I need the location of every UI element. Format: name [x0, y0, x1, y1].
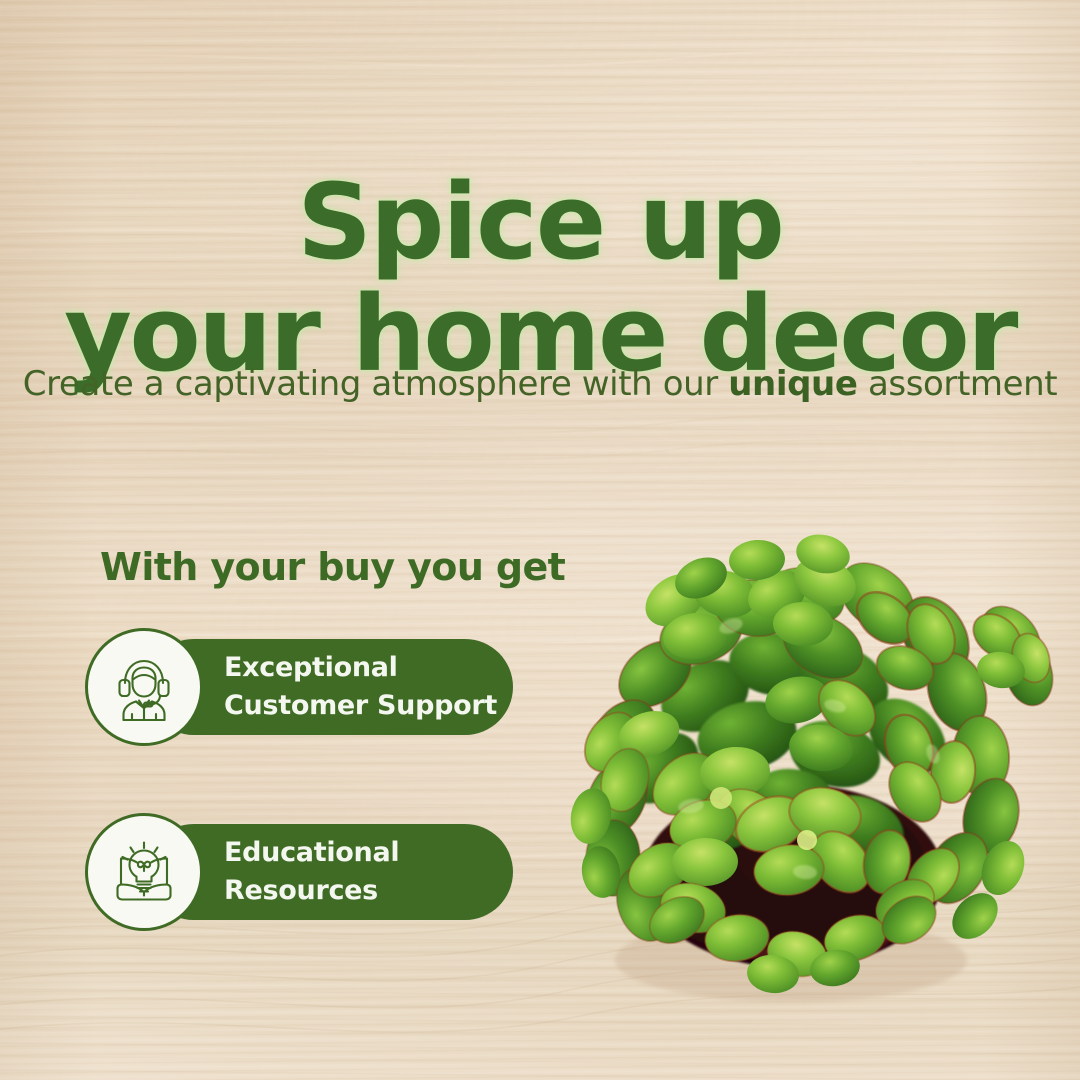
poster-canvas: Spice up your home decor Create a captiv… [0, 0, 1080, 1080]
subtitle-text-after: assortment [858, 364, 1058, 404]
page-title: Spice up your home decor [0, 166, 1080, 390]
subtitle-text-before: Create a captivating atmosphere with our [23, 364, 728, 404]
benefit-badge-label: Educational Resources [224, 834, 399, 910]
benefits-section-label: With your buy you get [100, 544, 565, 590]
benefit-badge-label: Exceptional Customer Support [224, 649, 497, 725]
open-book-lightbulb-icon [85, 813, 203, 931]
jade-plant-photo [505, 468, 1065, 1013]
headset-support-agent-icon [85, 628, 203, 746]
headline-line-1: Spice up [0, 166, 1080, 278]
subtitle-emphasis: unique [728, 364, 857, 404]
page-subtitle: Create a captivating atmosphere with our… [0, 362, 1080, 406]
